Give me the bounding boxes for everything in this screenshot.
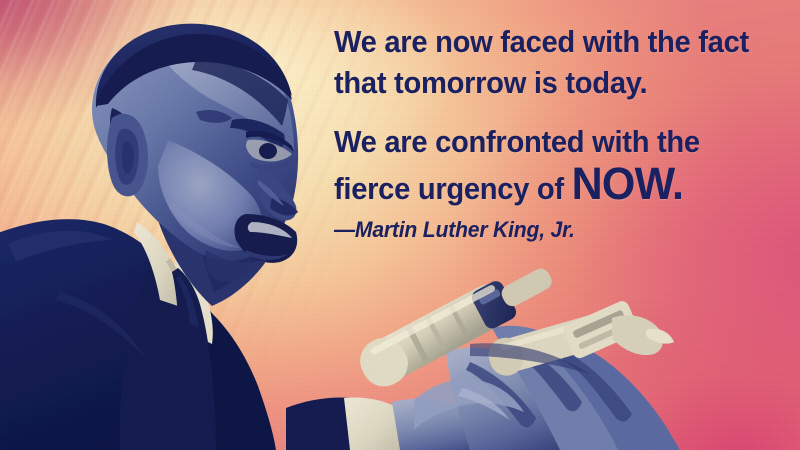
quote-line-4-prefix: fierce urgency of (334, 172, 572, 206)
quote-line-2: that tomorrow is today. (334, 63, 769, 104)
paragraph-spacer (334, 104, 790, 122)
microphones (352, 253, 674, 394)
quote-poster: We are now faced with the fact that tomo… (0, 0, 800, 450)
quote-emphasis-now: NOW. (572, 158, 684, 209)
quote-attribution: —Martin Luther King, Jr. (334, 217, 772, 243)
quote-block: We are now faced with the fact that tomo… (334, 22, 790, 243)
quote-line-1: We are now faced with the fact (334, 22, 769, 63)
quote-line-3: We are confronted with the (334, 122, 769, 163)
quote-line-4: fierce urgency of NOW. (334, 163, 769, 210)
